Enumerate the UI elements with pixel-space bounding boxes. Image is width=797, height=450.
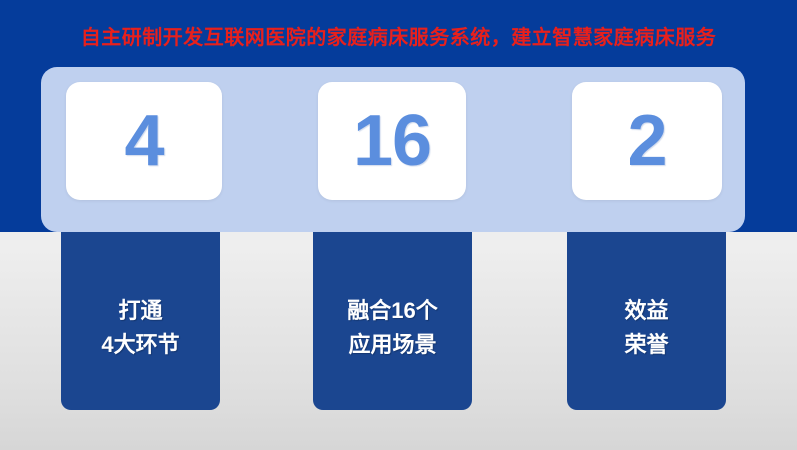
caption-line-1b: 4大环节	[101, 328, 179, 362]
caption-line-2a: 融合16个	[347, 294, 437, 328]
caption-box-1[interactable]: 打通 4大环节	[61, 232, 220, 410]
stat-card-1[interactable]: 4	[66, 82, 222, 200]
caption-line-3a: 效益	[624, 294, 668, 328]
stat-number-3: 2	[627, 105, 666, 177]
stat-card-2[interactable]: 16	[318, 82, 466, 200]
caption-box-3[interactable]: 效益 荣誉	[567, 232, 726, 410]
slide-canvas: 自主研制开发互联网医院的家庭病床服务系统，建立智慧家庭病床服务 4 16 2 打…	[0, 0, 797, 450]
caption-line-1a: 打通	[118, 294, 162, 328]
slide-headline: 自主研制开发互联网医院的家庭病床服务系统，建立智慧家庭病床服务	[0, 24, 797, 52]
stat-number-2: 16	[353, 105, 431, 177]
caption-line-3b: 荣誉	[624, 328, 668, 362]
caption-line-2b: 应用场景	[348, 328, 436, 362]
stat-number-1: 4	[124, 105, 163, 177]
stat-card-3[interactable]: 2	[572, 82, 722, 200]
caption-box-2[interactable]: 融合16个 应用场景	[313, 232, 472, 410]
